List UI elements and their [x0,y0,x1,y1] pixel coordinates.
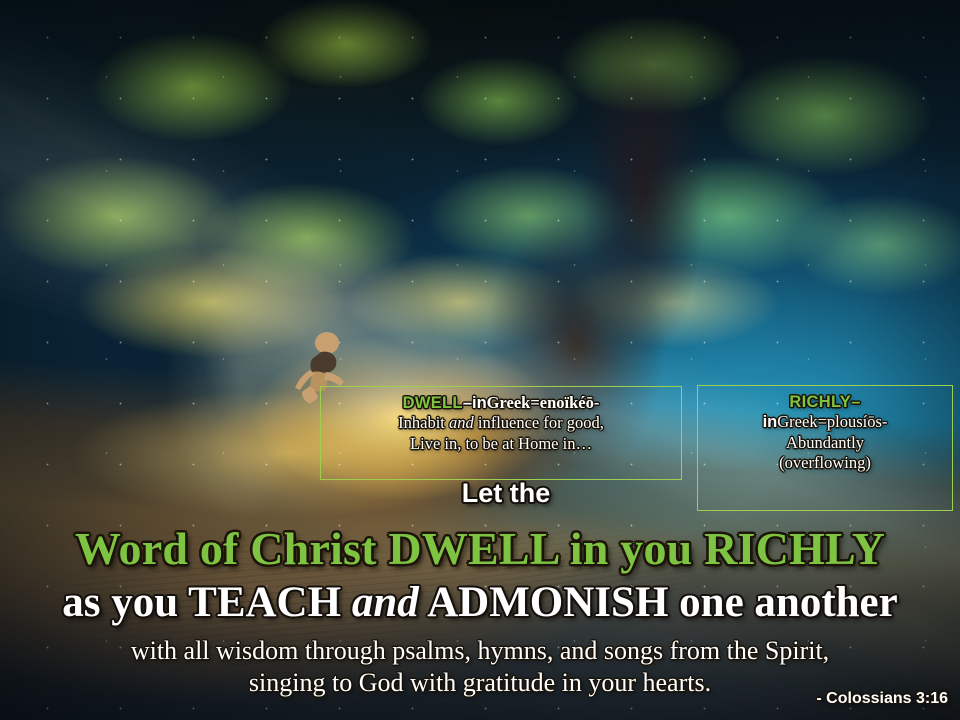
verse-headline-mid: in you [558,523,704,574]
callout-dwell-line2-a: Inhabit [398,413,449,432]
verse-headline: Word of Christ DWELL in you RICHLY [0,522,960,575]
verse-headline-pre: Word of Christ [75,523,389,574]
text-overlay: DWELL–inGreek=enoïkéō- Inhabit and influ… [0,0,960,720]
callout-richly-line2-b: Greek=plousíōs- [777,412,887,431]
callout-richly-line4: (overflowing) [706,453,944,473]
verse-line-wisdom: with all wisdom through psalms, hymns, a… [0,636,960,666]
callout-dwell-line1: DWELL–inGreek=enoïkéō- [329,393,673,413]
scripture-poster: DWELL–inGreek=enoïkéō- Inhabit and influ… [0,0,960,720]
callout-dwell-line2-b: influence for good, [474,413,604,432]
callout-dwell-dash: – [463,394,472,412]
callout-box-dwell: DWELL–inGreek=enoïkéō- Inhabit and influ… [320,386,682,480]
verse-line-teach-admonish: as you TEACH and ADMONISH one another [0,578,960,627]
callout-richly-term: RICHLY– [706,392,944,412]
verse-teach-b: ADMONISH one another [419,579,898,626]
callout-richly-line3: Abundantly [706,433,944,453]
verse-attribution: - Colossians 3:16 [816,690,948,708]
verse-teach-a: as you TEACH [62,579,352,626]
verse-headline-dwell: DWELL [388,523,558,574]
verse-teach-and: and [352,579,419,626]
callout-dwell-line3: Live in, to be at Home in… [329,434,673,454]
callout-richly-line2-a: in [763,413,778,431]
callout-dwell-leadrest: Greek=enoïkéō- [487,393,600,412]
callout-richly-line2: inGreek=plousíōs- [706,412,944,432]
callout-dwell-line2-emphasis: and [449,413,474,432]
callout-dwell-term: DWELL [403,394,463,412]
verse-headline-richly: RICHLY [704,523,885,574]
callout-dwell-leadin: in [472,394,487,412]
callout-dwell-line2: Inhabit and influence for good, [329,413,673,433]
verse-line-let-the: Let the [26,478,960,509]
